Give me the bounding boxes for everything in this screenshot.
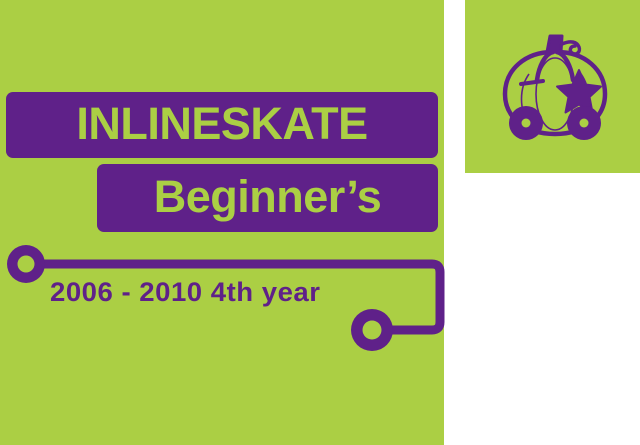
pumpkin-carriage-icon	[485, 18, 625, 158]
poster-canvas: INLINESKATE Beginner’s 2006 - 2010 4th y…	[0, 0, 640, 445]
page-subtitle: Beginner’s	[154, 174, 382, 219]
secondary-title-bar: Beginner’s	[97, 164, 438, 232]
year-range-label: 2006 - 2010 4th year	[50, 279, 320, 306]
primary-title-bar: INLINESKATE	[6, 92, 438, 158]
page-title: INLINESKATE	[76, 101, 367, 146]
